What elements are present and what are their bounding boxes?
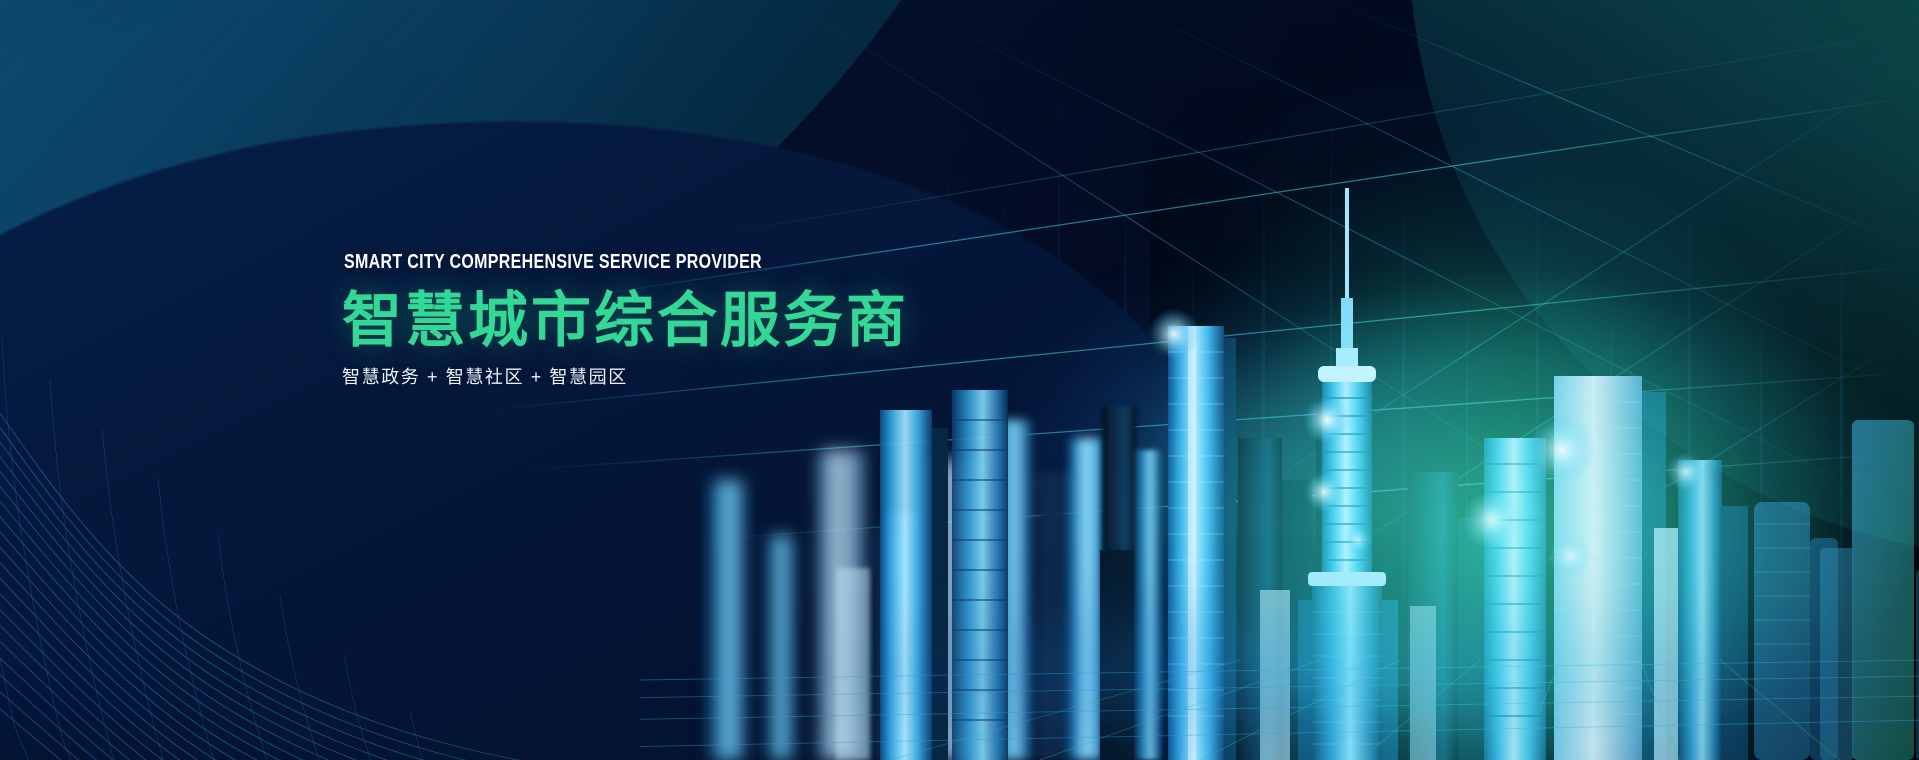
hero-headline-chinese: 智慧城市综合服务商 (342, 289, 1062, 353)
hero-eyebrow-english: SMART CITY COMPREHENSIVE SERVICE PROVIDE… (344, 252, 918, 272)
hero-copy-block: SMART CITY COMPREHENSIVE SERVICE PROVIDE… (342, 252, 1062, 390)
smart-city-hero-banner: SMART CITY COMPREHENSIVE SERVICE PROVIDE… (0, 0, 1919, 760)
city-skyline-graphic (640, 120, 1919, 760)
hero-subline-services: 智慧政务 + 智慧社区 + 智慧园区 (342, 365, 1062, 390)
central-spire-tower (1298, 188, 1398, 760)
